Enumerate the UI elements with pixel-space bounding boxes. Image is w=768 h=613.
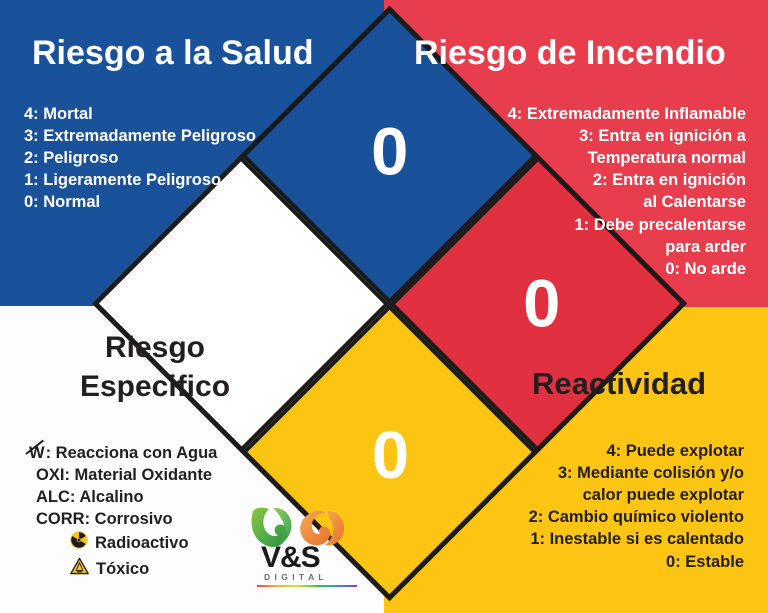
radioactive-icon: [70, 531, 88, 555]
list-item: 4: Extremadamente Inflamable: [508, 103, 746, 125]
list-item: 3: Mediante colisión y/o: [529, 462, 744, 484]
list-item: 4: Puede explotar: [529, 440, 744, 462]
alkaline-code: ALC: [36, 488, 70, 506]
list-item: Temperatura normal: [508, 147, 746, 169]
list-item: 2: Cambio químico violento: [529, 506, 744, 528]
alkaline-label: : Alcalino: [70, 488, 144, 506]
diamond-fire-rating: 0: [523, 270, 559, 337]
heading-specific-line1: Riesgo: [40, 328, 270, 367]
list-item: 1: Ligeramente Peligroso: [24, 169, 256, 191]
list-item: 2: Peligroso: [24, 147, 256, 169]
list-item: CORR: Corrosivo: [28, 508, 217, 530]
list-item: 0: Estable: [529, 551, 744, 573]
vs-digital-logo: V&S D I G I T A L: [247, 505, 365, 589]
specific-hazard-list: W: Reacciona con Agua OXI: Material Oxid…: [28, 442, 217, 581]
list-item: 4: Mortal: [24, 103, 256, 125]
logo-wordmark: V&S: [261, 543, 320, 573]
list-item: para arder: [508, 236, 746, 258]
diamond-reactivity-rating: 0: [371, 422, 407, 489]
toxic-label: Tóxico: [96, 558, 149, 580]
list-item: 1: Debe precalentarse: [508, 214, 746, 236]
heading-health: Riesgo a la Salud: [32, 36, 314, 72]
diamond-health-rating: 0: [371, 118, 407, 185]
corrosive-code: CORR: [36, 510, 85, 528]
list-item: 0: No arde: [508, 258, 746, 280]
oxidizer-code: OXI: [36, 466, 64, 484]
logo-tagline: D I G I T A L: [264, 573, 325, 582]
list-item: Tóxico: [28, 557, 217, 581]
toxic-warning-triangle-icon: [70, 557, 89, 581]
list-item: al Calentarse: [508, 191, 746, 213]
list-item: Radioactivo: [28, 531, 217, 555]
radioactive-label: Radioactivo: [95, 532, 189, 554]
heading-specific-line2: Especifico: [40, 367, 270, 406]
heading-fire: Riesgo de Incendio: [414, 36, 726, 72]
health-rating-list: 4: Mortal 3: Extremadamente Peligroso 2:…: [24, 103, 256, 214]
corrosive-label: : Corrosivo: [85, 510, 173, 528]
heading-specific: Riesgo Especifico: [40, 328, 270, 406]
heading-reactivity: Reactividad: [532, 368, 706, 401]
fire-rating-list: 4: Extremadamente Inflamable 3: Entra en…: [508, 103, 746, 280]
list-item: 1: Inestable si es calentado: [529, 528, 744, 550]
list-item: 3: Entra en ignición a: [508, 125, 746, 147]
water-reactive-code: W: [28, 442, 46, 464]
logo-rainbow-rule: [257, 585, 357, 587]
list-item: 0: Normal: [24, 191, 256, 213]
oxidizer-label: : Material Oxidante: [64, 466, 212, 484]
list-item: OXI: Material Oxidante: [28, 464, 217, 486]
water-reactive-label: : Reacciona con Agua: [46, 444, 218, 462]
list-item: 3: Extremadamente Peligroso: [24, 125, 256, 147]
list-item: W: Reacciona con Agua: [28, 442, 217, 464]
nfpa-704-infographic: 0 0 0 Riesgo a la Salud Riesgo de Incend…: [0, 0, 768, 613]
list-item: 2: Entra en ignición: [508, 169, 746, 191]
list-item: ALC: Alcalino: [28, 486, 217, 508]
reactivity-rating-list: 4: Puede explotar 3: Mediante colisión y…: [529, 440, 744, 573]
list-item: calor puede explotar: [529, 484, 744, 506]
